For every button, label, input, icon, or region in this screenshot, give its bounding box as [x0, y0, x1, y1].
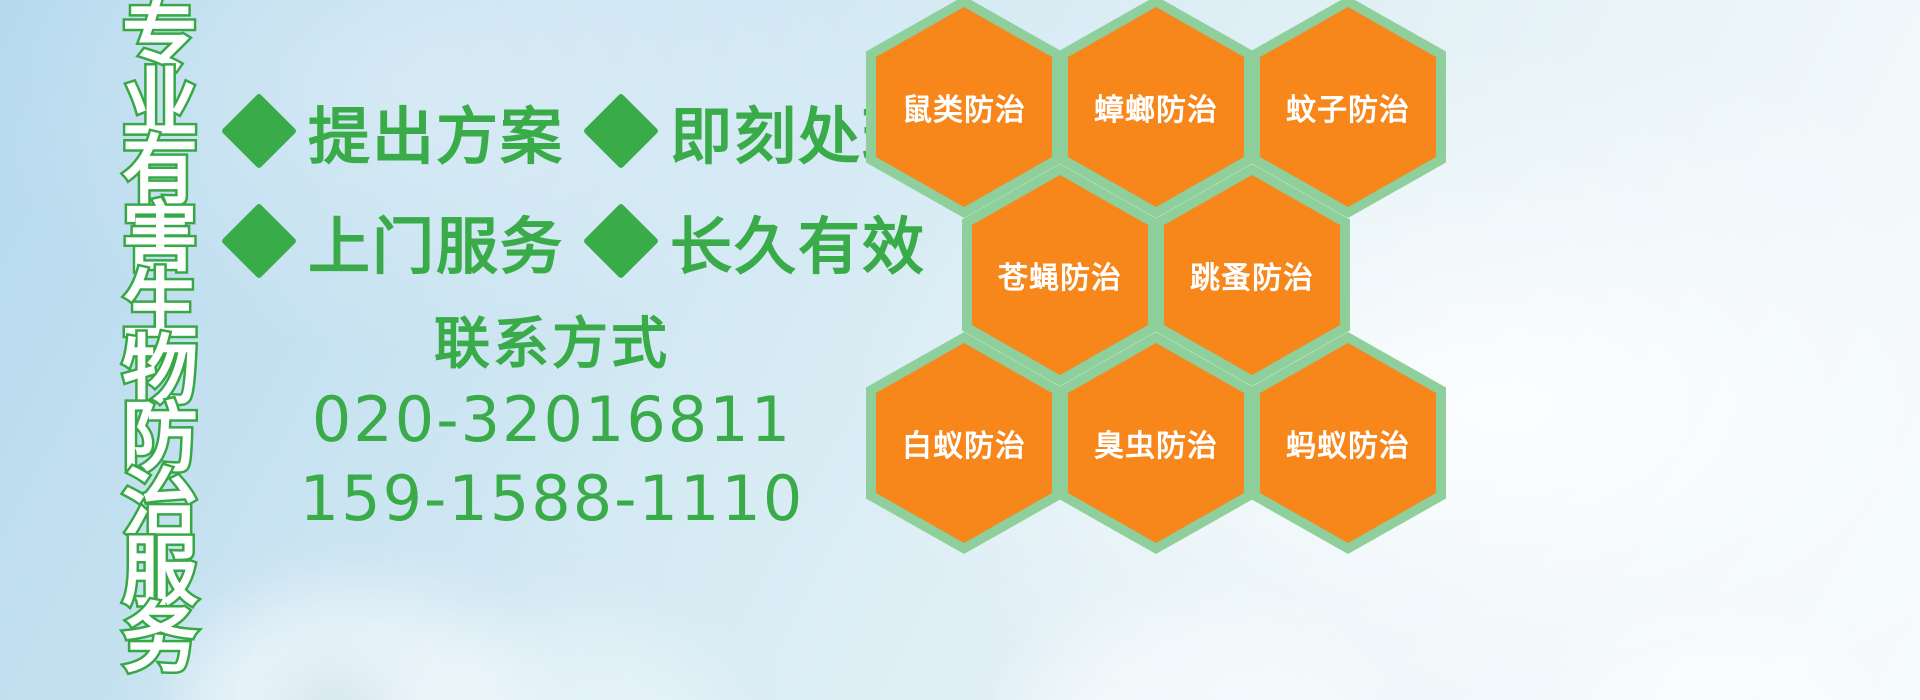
hex-inner: 蟑螂防治: [1068, 7, 1244, 207]
diamond-bullet-icon: [583, 203, 659, 279]
background-blur-shape: [180, 590, 520, 700]
service-label: 白蚁防治: [902, 421, 1026, 465]
service-label: 蚂蚁防治: [1286, 421, 1410, 465]
feature-bullets: 提出方案 即刻处理 上门服务 长久有效: [232, 76, 872, 296]
hex-inner: 跳蚤防治: [1164, 175, 1340, 375]
hex-inner: 臭虫防治: [1068, 343, 1244, 543]
background-blur-shape: [300, 680, 370, 700]
service-honeycomb: 鼠类防治 蟑螂防治 蚊子防治 苍蝇防治 跳蚤防治 白蚁防治: [852, 0, 1472, 700]
service-label: 苍蝇防治: [998, 253, 1122, 297]
hex-inner: 蚊子防治: [1260, 7, 1436, 207]
vertical-title: 专 业 有 害 生 物 防 治 服 务: [108, 4, 212, 700]
background-blur-shape: [1560, 620, 1880, 700]
diamond-bullet-icon: [221, 93, 297, 169]
hex-inner: 苍蝇防治: [972, 175, 1148, 375]
feature-label: 提出方案: [308, 86, 564, 176]
feature-bullet-row: 上门服务 长久有效: [232, 186, 872, 296]
service-label: 臭虫防治: [1094, 421, 1218, 465]
service-label: 蟑螂防治: [1094, 85, 1218, 129]
feature-bullet-row: 提出方案 即刻处理: [232, 76, 872, 186]
feature-label: 上门服务: [308, 196, 564, 286]
diamond-bullet-icon: [583, 93, 659, 169]
diamond-bullet-icon: [221, 203, 297, 279]
hex-inner: 鼠类防治: [876, 7, 1052, 207]
phone-number-mobile[interactable]: 159-1588-1110: [232, 459, 872, 538]
service-label: 跳蚤防治: [1190, 253, 1314, 297]
service-label: 蚊子防治: [1286, 85, 1410, 129]
phone-number-landline[interactable]: 020-32016811: [232, 380, 872, 459]
service-label: 鼠类防治: [902, 85, 1026, 129]
background-blur-shape: [420, 620, 720, 700]
contact-block: 联系方式 020-32016811 159-1588-1110: [232, 310, 872, 539]
contact-title: 联系方式: [232, 310, 872, 380]
hex-inner: 蚂蚁防治: [1260, 343, 1436, 543]
vertical-title-char: 务: [122, 606, 198, 673]
hex-inner: 白蚁防治: [876, 343, 1052, 543]
pest-control-banner: 专 业 有 害 生 物 防 治 服 务 提出方案 即刻处理 上门服务 长久有效 …: [0, 0, 1920, 700]
